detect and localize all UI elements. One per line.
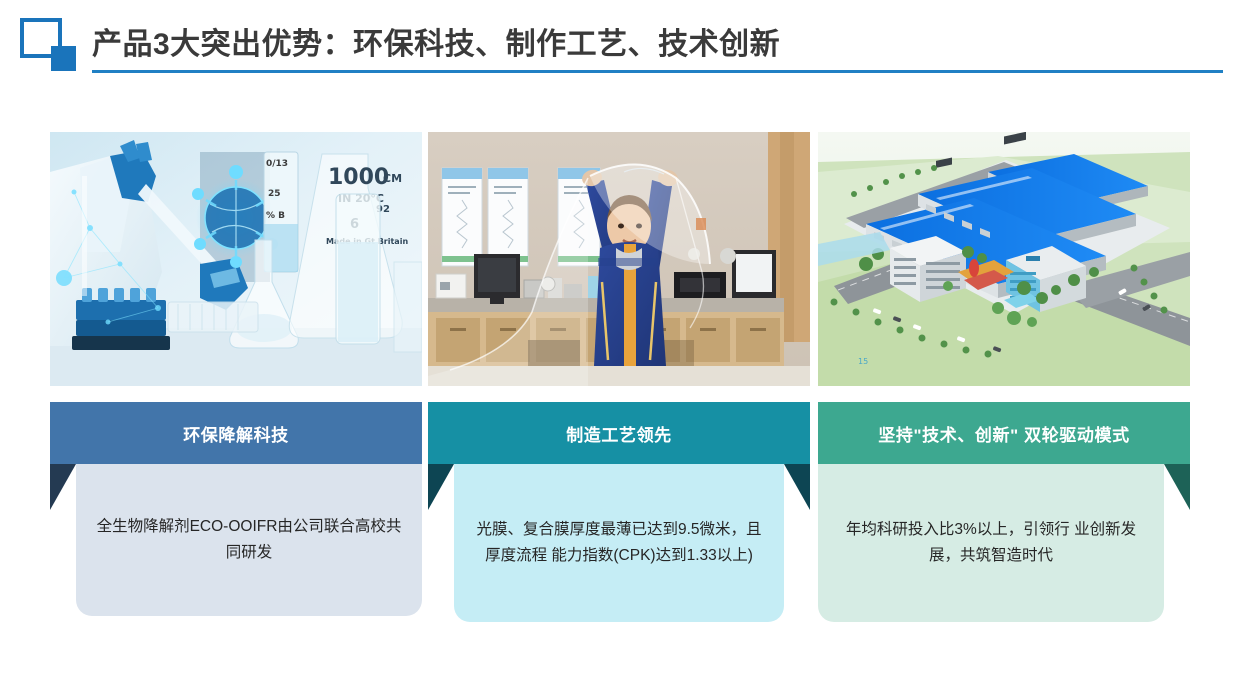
card-1-body-text: 全生物降解剂ECO-OOIFR由公司联合高校共同研发 bbox=[76, 514, 422, 565]
square-filled-icon bbox=[51, 46, 76, 71]
card-3-banner: 坚持"技术、创新" 双轮驱动模式 bbox=[818, 402, 1190, 464]
card-1-banner-label: 环保降解科技 bbox=[183, 421, 289, 446]
slide-canvas: 产品3大突出优势：环保科技、制作工艺、技术创新 bbox=[0, 0, 1246, 699]
card-1-body-panel: 全生物降解剂ECO-OOIFR由公司联合高校共同研发 bbox=[76, 464, 422, 616]
card-2-body-panel: 光膜、复合膜厚度最薄已达到9.5微米，且厚度流程 能力指数(CPK)达到1.33… bbox=[454, 464, 784, 622]
card-3-body-text: 年均科研投入比3%以上，引领行 业创新发展，共筑智造时代 bbox=[818, 517, 1164, 568]
card-1-image: 0/13 25 % B 1000 CM IN 20°C bbox=[50, 132, 422, 386]
slide-header: 产品3大突出优势：环保科技、制作工艺、技术创新 bbox=[0, 0, 1246, 86]
card-2-fold-left bbox=[428, 464, 454, 510]
svg-text:CM: CM bbox=[383, 172, 402, 185]
svg-text:0/13: 0/13 bbox=[266, 159, 288, 169]
svg-text:1000: 1000 bbox=[328, 165, 389, 190]
svg-text:15: 15 bbox=[858, 357, 868, 366]
svg-text:% B: % B bbox=[266, 211, 285, 221]
card-2-banner-label: 制造工艺领先 bbox=[566, 421, 672, 446]
header-square-decoration-icon bbox=[20, 18, 74, 68]
card-1-banner: 环保降解科技 bbox=[50, 402, 422, 464]
card-3-fold-right bbox=[1164, 464, 1190, 510]
feature-card-group: 0/13 25 % B 1000 CM IN 20°C bbox=[0, 132, 1246, 652]
card-1-fold-left bbox=[50, 464, 76, 510]
card-2-body-text: 光膜、复合膜厚度最薄已达到9.5微米，且厚度流程 能力指数(CPK)达到1.33… bbox=[454, 517, 784, 568]
card-3-banner-label: 坚持"技术、创新" 双轮驱动模式 bbox=[878, 421, 1129, 446]
card-3-body-panel: 年均科研投入比3%以上，引领行 业创新发展，共筑智造时代 bbox=[818, 464, 1164, 622]
card-2-fold-right bbox=[784, 464, 810, 510]
card-2-image bbox=[428, 132, 810, 386]
card-2-banner: 制造工艺领先 bbox=[428, 402, 810, 464]
card-3-image: 15 bbox=[818, 132, 1190, 386]
svg-text:25: 25 bbox=[268, 189, 281, 199]
page-title: 产品3大突出优势：环保科技、制作工艺、技术创新 bbox=[92, 19, 780, 63]
header-divider bbox=[92, 70, 1223, 73]
